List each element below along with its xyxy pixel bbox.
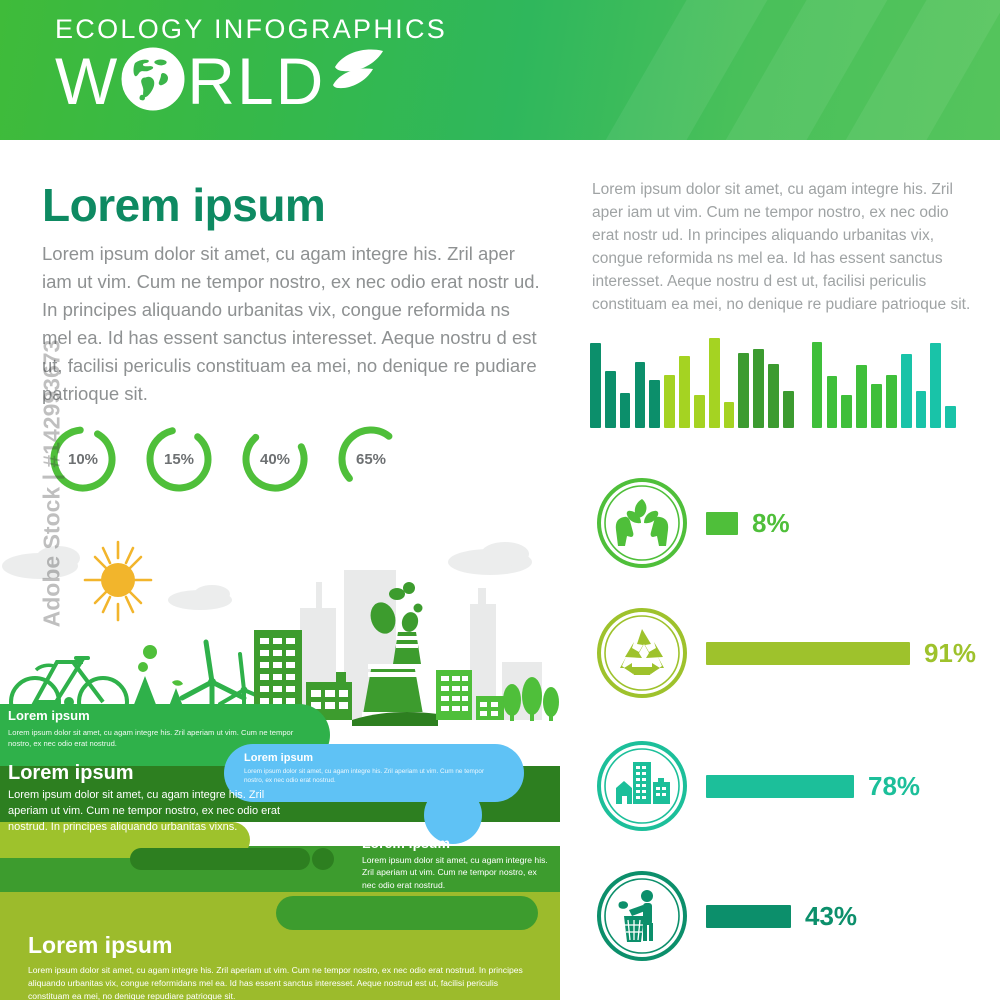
bar-8 (694, 395, 705, 428)
percent-bar-trash-disposal (706, 905, 791, 928)
header-title-group: ECOLOGY INFOGRAPHICS W (55, 14, 447, 116)
donut-label-65: 65% (336, 424, 406, 494)
trash-disposal-icon (596, 870, 688, 962)
banner-dark-dot (312, 848, 334, 870)
donut-chart-15: 15% (144, 424, 214, 494)
page-title: Lorem ipsum (42, 178, 325, 232)
right-body-text: Lorem ipsum dolor sit amet, cu agam inte… (592, 178, 974, 316)
bar-22 (916, 391, 927, 428)
header-subtitle: ECOLOGY INFOGRAPHICS (55, 14, 447, 44)
bar-1 (590, 343, 601, 428)
bar-12 (753, 349, 764, 428)
bar-17 (841, 395, 852, 428)
donut-label-15: 15% (144, 424, 214, 494)
donut-chart-40: 40% (240, 424, 310, 494)
bar-3 (620, 393, 631, 428)
bar-6 (664, 375, 675, 428)
percent-bar-city-buildings (706, 775, 854, 798)
donut-label-10: 10% (48, 424, 118, 494)
callout-text-group: Lorem ipsum Lorem ipsum dolor sit amet, … (244, 752, 494, 785)
bar-21 (901, 354, 912, 428)
banner-green-pill-lower (276, 896, 538, 930)
banner-2-body: Lorem ipsum dolor sit amet, cu agam inte… (8, 787, 298, 835)
bar-14 (783, 391, 794, 428)
bar-13 (768, 364, 779, 428)
bar-15 (812, 342, 823, 428)
infographic-page: ECOLOGY INFOGRAPHICS W (0, 0, 1000, 1000)
icon-row-city-buildings: 78% (596, 740, 976, 832)
percent-label-city-buildings: 78% (868, 771, 920, 802)
city-buildings-icon (596, 740, 688, 832)
recycle-icon (596, 607, 688, 699)
banner-3-body: Lorem ipsum dolor sit amet, cu agam inte… (362, 854, 552, 891)
icon-row-recycle: 91% (596, 607, 976, 699)
callout-title: Lorem ipsum (244, 752, 494, 764)
hands-plant-icon (596, 477, 688, 569)
bar-10 (724, 402, 735, 428)
bar-7 (679, 356, 690, 428)
bar-11 (738, 353, 749, 428)
percent-label-hands-plant: 8% (752, 508, 790, 539)
banner-4-body: Lorem ipsum dolor sit amet, cu agam inte… (28, 964, 538, 1000)
bar-16 (827, 376, 838, 428)
banner-1-body: Lorem ipsum dolor sit amet, cu agam inte… (8, 727, 308, 749)
bar-5 (649, 380, 660, 428)
donut-chart-10: 10% (48, 424, 118, 494)
banner-4-text-group: Lorem ipsum Lorem ipsum dolor sit amet, … (28, 932, 538, 1000)
sun-icon (101, 563, 135, 597)
bar-9 (709, 338, 720, 428)
bar-4 (635, 362, 646, 428)
percent-bar-recycle (706, 642, 910, 665)
header-title-row: W RLD (55, 46, 447, 116)
percent-label-recycle: 91% (924, 638, 976, 669)
globe-icon (121, 47, 185, 116)
donut-label-40: 40% (240, 424, 310, 494)
banner-dark-pill (130, 848, 310, 870)
bar-18 (856, 365, 867, 428)
percent-label-trash-disposal: 43% (805, 901, 857, 932)
banner-3-title: Lorem ipsum (362, 835, 552, 851)
donut-chart-group: 10% 15% 40% 65% (48, 424, 406, 494)
header-word-rest: RLD (187, 46, 325, 116)
banner-1-text-group: Lorem ipsum Lorem ipsum dolor sit amet, … (8, 708, 308, 749)
left-body-text: Lorem ipsum dolor sit amet, cu agam inte… (42, 240, 542, 408)
bar-20 (886, 375, 897, 428)
bar-chart (590, 336, 960, 428)
header-banner: ECOLOGY INFOGRAPHICS W (0, 0, 1000, 140)
icon-row-trash-disposal: 43% (596, 870, 976, 962)
bar-24 (945, 406, 956, 428)
banner-group: Lorem ipsum Lorem ipsum dolor sit amet, … (0, 700, 560, 1000)
percent-bar-hands-plant (706, 512, 738, 535)
cloud-shapes (2, 542, 532, 610)
banner-1-title: Lorem ipsum (8, 708, 308, 723)
bar-2 (605, 371, 616, 428)
banner-3-text-group: Lorem ipsum Lorem ipsum dolor sit amet, … (362, 835, 552, 891)
bar-23 (930, 343, 941, 428)
header-word-w: W (55, 46, 119, 116)
bar-19 (871, 384, 882, 428)
callout-body: Lorem ipsum dolor sit amet, cu agam inte… (244, 767, 494, 785)
banner-4-title: Lorem ipsum (28, 932, 538, 959)
leaf-icon (331, 45, 385, 98)
donut-chart-65: 65% (336, 424, 406, 494)
icon-row-hands-plant: 8% (596, 477, 976, 569)
